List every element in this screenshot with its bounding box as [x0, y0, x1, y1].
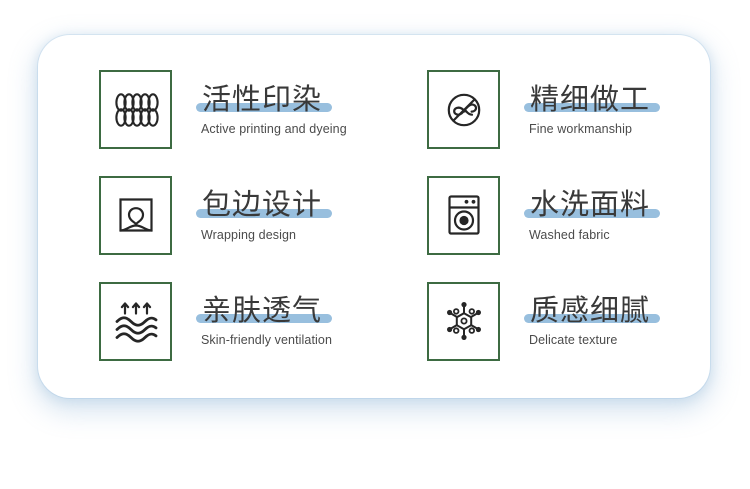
- feature-text: 包边设计 Wrapping design: [200, 188, 326, 242]
- feature-subtitle: Delicate texture: [528, 333, 617, 348]
- feature-title: 精细做工: [530, 83, 650, 115]
- feature-highlight-banner: 活性印染 Active printing and dyeing: [0, 0, 750, 489]
- feature-subtitle: Fine workmanship: [528, 122, 632, 137]
- feature-subtitle: Active printing and dyeing: [200, 122, 347, 137]
- washing-machine-icon: [445, 193, 483, 237]
- feature-card: 活性印染 Active printing and dyeing: [38, 35, 710, 398]
- feature-item-skin-friendly-ventilation: 亲肤透气 Skin-friendly ventilation: [46, 268, 374, 374]
- feature-title: 水洗面料: [530, 188, 650, 220]
- icon-box: [99, 176, 172, 255]
- feature-subtitle: Wrapping design: [200, 228, 296, 243]
- feature-subtitle: Washed fabric: [528, 228, 610, 243]
- feature-item-delicate-texture: 质感细腻 Delicate texture: [374, 268, 702, 374]
- feature-item-washed-fabric: 水洗面料 Washed fabric: [374, 163, 702, 269]
- feature-item-active-printing-and-dyeing: 活性印染 Active printing and dyeing: [46, 57, 374, 163]
- title-wrap: 水洗面料: [528, 188, 654, 220]
- snowflake-molecule-icon: [442, 299, 486, 343]
- title-wrap: 亲肤透气: [200, 294, 326, 326]
- breathable-waves-icon: [113, 299, 159, 343]
- feature-text: 质感细腻 Delicate texture: [528, 294, 654, 348]
- feature-item-wrapping-design: 包边设计 Wrapping design: [46, 163, 374, 269]
- feature-title: 质感细腻: [530, 294, 650, 326]
- title-wrap: 质感细腻: [528, 294, 654, 326]
- feature-item-fine-workmanship: 精细做工 Fine workmanship: [374, 57, 702, 163]
- feature-text: 水洗面料 Washed fabric: [528, 188, 654, 242]
- icon-box: [427, 282, 500, 361]
- icon-box: [427, 70, 500, 149]
- title-wrap: 精细做工: [528, 83, 654, 115]
- wrapped-edge-square-icon: [115, 194, 157, 236]
- icon-box: [99, 70, 172, 149]
- feature-text: 精细做工 Fine workmanship: [528, 83, 654, 137]
- feature-title: 包边设计: [202, 188, 322, 220]
- title-wrap: 包边设计: [200, 188, 326, 220]
- feature-title: 亲肤透气: [202, 294, 322, 326]
- feature-subtitle: Skin-friendly ventilation: [200, 333, 332, 348]
- icon-box: [427, 176, 500, 255]
- feature-text: 活性印染 Active printing and dyeing: [200, 83, 347, 137]
- feature-grid: 活性印染 Active printing and dyeing: [38, 35, 710, 398]
- title-wrap: 活性印染: [200, 83, 326, 115]
- feature-text: 亲肤透气 Skin-friendly ventilation: [200, 294, 332, 348]
- knit-weave-icon: [113, 92, 159, 128]
- icon-box: [99, 282, 172, 361]
- infinity-circle-icon: [443, 89, 485, 131]
- feature-title: 活性印染: [202, 83, 322, 115]
